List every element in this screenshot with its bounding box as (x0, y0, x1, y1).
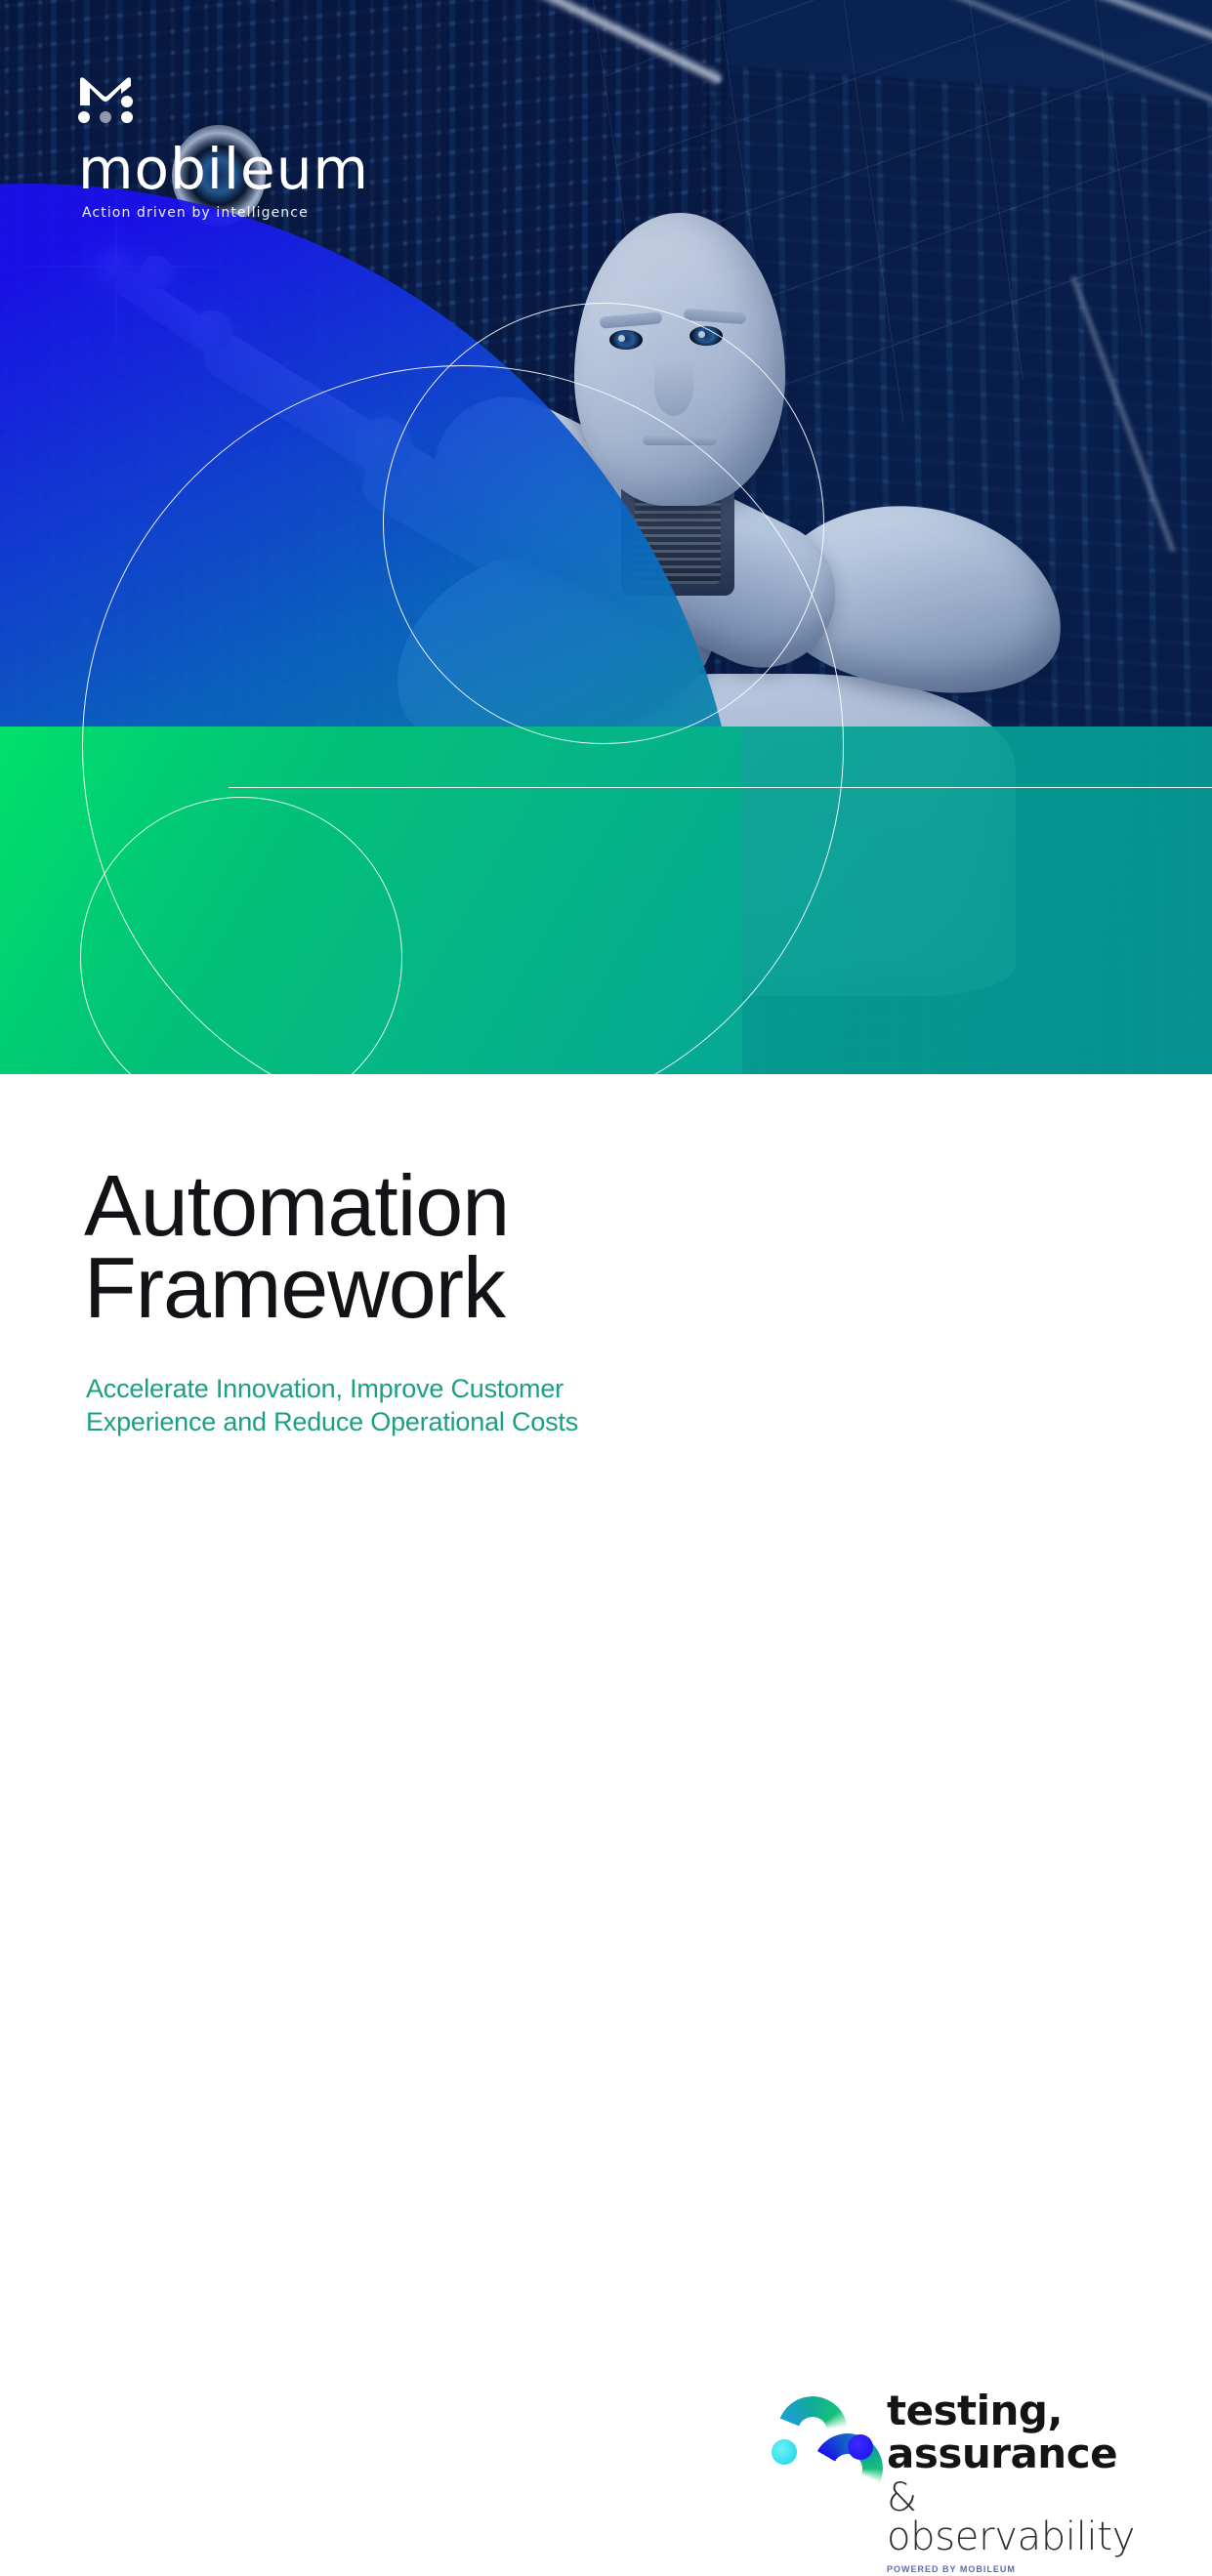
product-logo-line3: & observability (887, 2478, 1162, 2556)
hero-banner: mobileum Action driven by intelligence (0, 0, 1212, 1074)
product-logo-line1: testing, (887, 2390, 1162, 2431)
m-icon-dot (100, 111, 111, 123)
powered-by-label: POWERED BY MOBILEUM (887, 2564, 1162, 2574)
brand-logo: mobileum Action driven by intelligence (78, 76, 369, 221)
page-title: Automation Framework (84, 1165, 787, 1330)
mobileum-m-icon (78, 76, 133, 127)
guide-horizontal-line (229, 787, 1212, 788)
swoosh-cap-blue (848, 2434, 873, 2460)
m-icon-dot (121, 111, 133, 123)
m-icon-dot (78, 111, 90, 123)
m-icon-dot-row (78, 111, 133, 123)
page-title-line2: Framework (84, 1247, 787, 1329)
page-subtitle-line2: Experience and Reduce Operational Costs (86, 1407, 578, 1436)
product-logo: testing, assurance & observability POWER… (772, 2381, 1162, 2576)
brand-wordmark: mobileum (78, 141, 369, 197)
product-logo-text: testing, assurance & observability POWER… (887, 2390, 1162, 2574)
page-subtitle-line1: Accelerate Innovation, Improve Customer (86, 1374, 564, 1403)
guide-circle-head (383, 303, 824, 744)
cover-content: Automation Framework Accelerate Innovati… (0, 1074, 1212, 1713)
page-subtitle: Accelerate Innovation, Improve Customer … (86, 1372, 672, 1439)
product-logo-line2: assurance (887, 2433, 1162, 2474)
brand-tagline: Action driven by intelligence (82, 205, 369, 221)
swoosh-cap-cyan (772, 2439, 797, 2465)
m-icon-dot (121, 96, 133, 107)
tao-swoosh-icon (772, 2392, 887, 2508)
